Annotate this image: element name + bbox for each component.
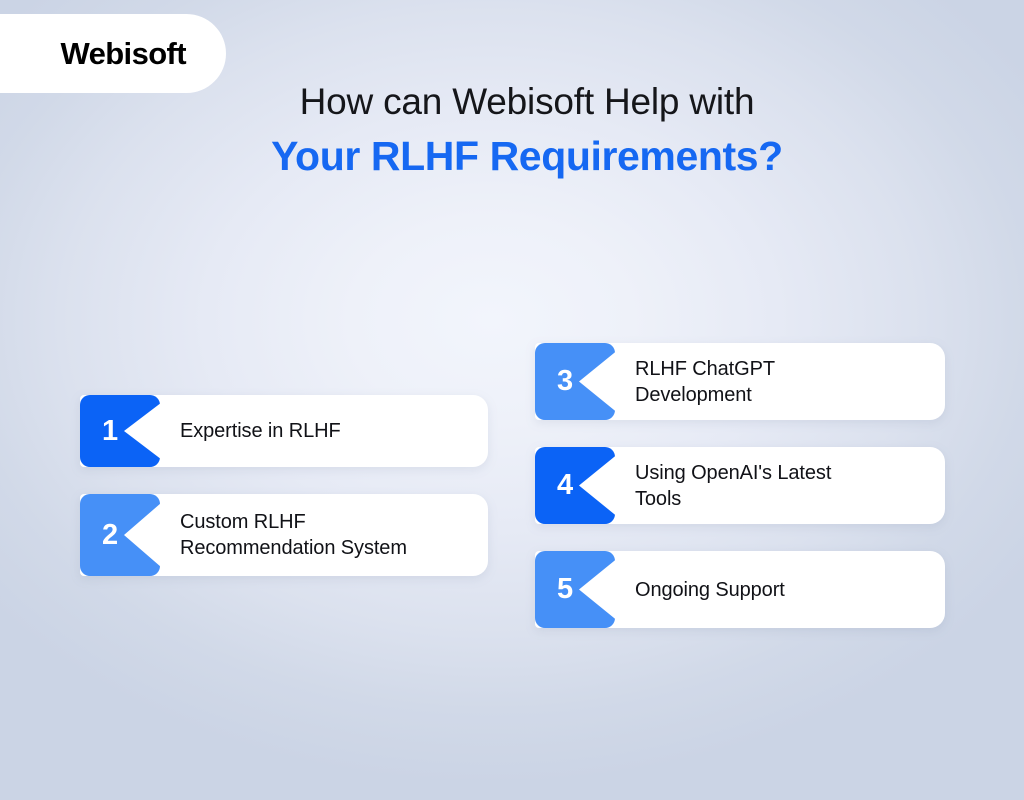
list-item[interactable]: 5 Ongoing Support bbox=[535, 551, 945, 628]
feature-list-right: 3 RLHF ChatGPT Development 4 Using OpenA… bbox=[535, 343, 945, 628]
list-item[interactable]: 1 Expertise in RLHF bbox=[80, 395, 488, 467]
list-item-number: 3 bbox=[557, 367, 573, 396]
list-item-label: Using OpenAI's Latest Tools bbox=[615, 447, 945, 524]
page-title: How can Webisoft Help with Your RLHF Req… bbox=[0, 78, 1024, 184]
feature-list-left: 1 Expertise in RLHF 2 Custom RLHF Recomm… bbox=[80, 395, 488, 576]
list-item[interactable]: 2 Custom RLHF Recommendation System bbox=[80, 494, 488, 576]
page-title-line-1: How can Webisoft Help with bbox=[30, 78, 1024, 126]
list-item-label: Custom RLHF Recommendation System bbox=[160, 494, 488, 576]
list-item-label: RLHF ChatGPT Development bbox=[615, 343, 945, 420]
list-item-label: Ongoing Support bbox=[615, 551, 945, 628]
list-item-number: 2 bbox=[102, 521, 118, 550]
page-title-line-2: Your RLHF Requirements? bbox=[30, 128, 1024, 184]
list-item-number: 1 bbox=[102, 417, 118, 446]
list-item[interactable]: 4 Using OpenAI's Latest Tools bbox=[535, 447, 945, 524]
list-item-number: 5 bbox=[557, 575, 573, 604]
brand-logo-text: Webisoft bbox=[60, 36, 186, 72]
list-item-number: 4 bbox=[557, 471, 573, 500]
list-item-label: Expertise in RLHF bbox=[160, 395, 488, 467]
list-item[interactable]: 3 RLHF ChatGPT Development bbox=[535, 343, 945, 420]
